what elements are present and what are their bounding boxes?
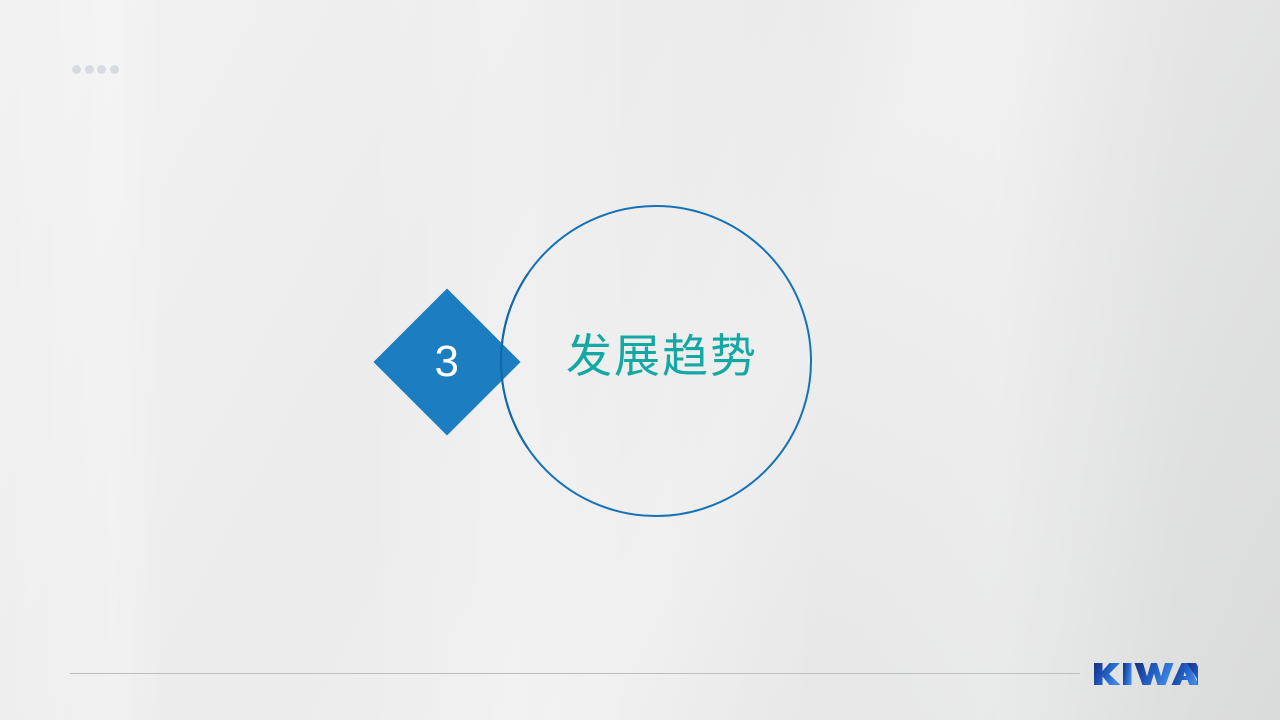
section-title: 发展趋势 (566, 330, 758, 383)
kiway-logo (1094, 661, 1198, 687)
section-divider-graphic: 3 发展趋势 (0, 0, 1280, 720)
decorative-dot-icon (110, 65, 119, 74)
decorative-dot-icon (97, 65, 106, 74)
decorative-dots (72, 65, 119, 74)
section-number: 3 (395, 310, 499, 414)
decorative-dot-icon (72, 65, 81, 74)
kiway-logo-icon (1094, 661, 1198, 687)
decorative-dot-icon (85, 65, 94, 74)
presentation-slide: 3 发展趋势 (0, 0, 1280, 720)
